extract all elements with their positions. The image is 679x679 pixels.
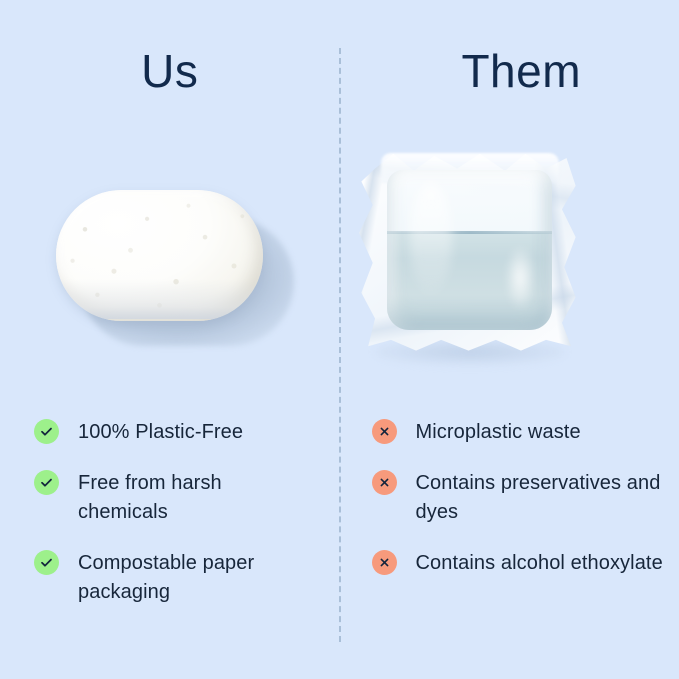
list-item: Contains alcohol ethoxylate — [372, 549, 664, 578]
list-item-label: Compostable paper packaging — [78, 549, 312, 607]
pod-wrap — [355, 143, 583, 378]
list-item: 100% Plastic-Free — [34, 418, 312, 447]
list-item-label: 100% Plastic-Free — [78, 418, 243, 447]
dashed-divider — [339, 48, 341, 642]
list-item-label: Microplastic waste — [416, 418, 581, 447]
feature-list-them: Microplastic waste Contains preservative… — [340, 418, 679, 600]
list-item: Free from harsh chemicals — [34, 469, 312, 527]
pod-gloss-highlight-secondary — [505, 244, 535, 311]
cross-icon — [372, 419, 397, 444]
check-icon — [34, 470, 59, 495]
check-icon — [34, 419, 59, 444]
cross-icon — [372, 550, 397, 575]
list-item-label: Contains alcohol ethoxylate — [416, 549, 663, 578]
us-vs-them-comparison: Us 100% Plastic-Free — [0, 0, 679, 679]
check-icon — [34, 550, 59, 575]
feature-list-us: 100% Plastic-Free Free from harsh chemic… — [0, 418, 340, 629]
pod-liquid-body — [387, 170, 552, 330]
product-image-pod — [340, 135, 679, 390]
pod-gloss-highlight — [410, 183, 453, 295]
product-image-tablet — [0, 135, 340, 390]
list-item: Contains preservatives and dyes — [372, 469, 664, 527]
tablet-wrap — [56, 190, 271, 335]
tablet-bottom-edge — [58, 279, 261, 319]
column-us: Us 100% Plastic-Free — [0, 0, 340, 679]
list-item: Compostable paper packaging — [34, 549, 312, 607]
column-heading-them: Them — [340, 48, 679, 94]
column-them: Them — [340, 0, 679, 679]
tablet-body — [56, 190, 263, 321]
list-item: Microplastic waste — [372, 418, 664, 447]
column-heading-us: Us — [0, 48, 350, 94]
cross-icon — [372, 470, 397, 495]
list-item-label: Contains preservatives and dyes — [416, 469, 664, 527]
list-item-label: Free from harsh chemicals — [78, 469, 312, 527]
